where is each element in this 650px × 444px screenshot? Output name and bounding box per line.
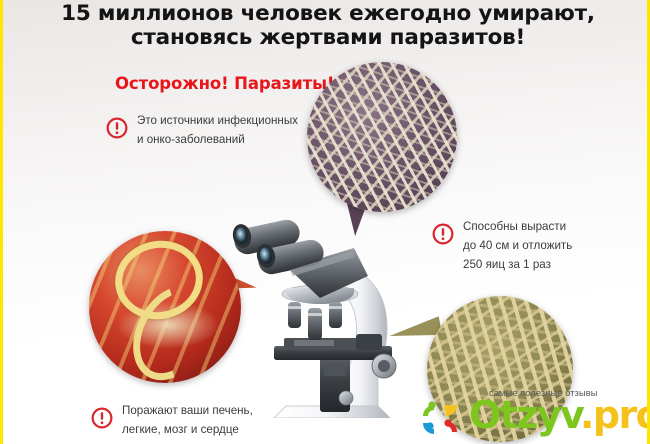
photo-worms-purple xyxy=(307,62,457,212)
bullet-item-1-label: Это источники инфекционных и онко-заболе… xyxy=(137,112,298,150)
exclamation-circle-icon xyxy=(432,223,454,245)
site-logo[interactable]: самые полезные отзывы Otzyv.pro xyxy=(415,388,650,444)
four-people-pinwheel-icon xyxy=(417,396,465,440)
headline-line-2: становясь жертвами паразитов! xyxy=(3,26,650,49)
logo-word-tld: .pro xyxy=(580,393,650,437)
warning-title: Осторожно! Паразиты! xyxy=(115,74,334,93)
exclamation-circle-icon xyxy=(106,117,128,139)
photo-worm-in-tissue xyxy=(89,231,241,383)
bullet-item-3-label: Поражают ваши печень, легкие, мозг и сер… xyxy=(122,402,253,440)
bullet-item-2: Способны вырасти до 40 см и отложить 250… xyxy=(432,218,622,274)
page-title: 15 миллионов человек ежегодно умирают, с… xyxy=(3,2,650,49)
logo-word-main: Otzyv xyxy=(469,393,580,437)
bullet-item-3: Поражают ваши печень, легкие, мозг и сер… xyxy=(91,402,316,440)
headline-line-1: 15 миллионов человек ежегодно умирают, xyxy=(3,2,650,25)
bullet-item-1: Это источники инфекционных и онко-заболе… xyxy=(106,112,321,150)
logo-wordmark: Otzyv.pro xyxy=(469,396,650,434)
exclamation-circle-icon xyxy=(91,407,113,429)
microscope-illustration xyxy=(228,206,418,418)
poster-canvas: 15 миллионов человек ежегодно умирают, с… xyxy=(0,0,650,444)
bullet-item-2-label: Способны вырасти до 40 см и отложить 250… xyxy=(463,218,572,274)
